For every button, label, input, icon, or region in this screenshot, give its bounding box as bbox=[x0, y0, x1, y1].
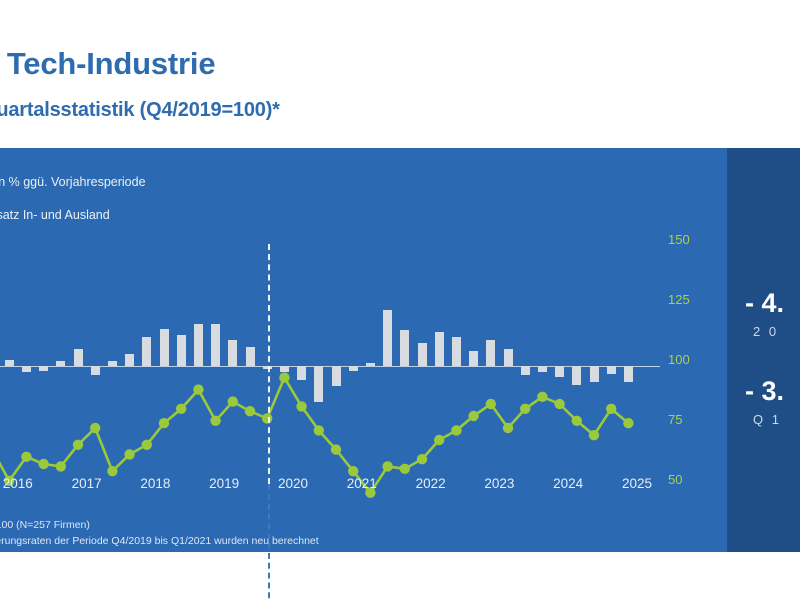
legend-label-change-rate: erung in % ggü. Vorjahresperiode bbox=[0, 175, 146, 189]
y-axis-tick-label: 75 bbox=[668, 412, 708, 427]
page-title: atz Tech-Industrie bbox=[0, 46, 215, 82]
x-axis-tick-label: 2021 bbox=[332, 476, 392, 491]
line-marker bbox=[245, 406, 255, 416]
line-marker bbox=[193, 384, 203, 394]
line-marker bbox=[279, 372, 289, 382]
slide-canvas: atz Tech-Industrie nem-Quartalsstatistik… bbox=[0, 0, 800, 600]
line-marker bbox=[382, 461, 392, 471]
line-marker bbox=[537, 392, 547, 402]
y-axis-tick-label: 50 bbox=[668, 472, 708, 487]
line-marker bbox=[400, 464, 410, 474]
slide-header: atz Tech-Industrie nem-Quartalsstatistik… bbox=[0, 0, 800, 148]
x-axis-tick-label: 2016 bbox=[0, 476, 48, 491]
chart-panel: erung in % ggü. Vorjahresperiode Umsatz … bbox=[0, 148, 727, 552]
footnote-recalculation: Veränderungsraten der Periode Q4/2019 bi… bbox=[0, 535, 319, 547]
line-marker bbox=[468, 411, 478, 421]
line-marker bbox=[56, 461, 66, 471]
line-marker bbox=[623, 418, 633, 428]
x-axis-tick-label: 2020 bbox=[263, 476, 323, 491]
line-marker bbox=[124, 449, 134, 459]
x-axis-tick-label: 2022 bbox=[401, 476, 461, 491]
line-marker bbox=[90, 423, 100, 433]
line-marker bbox=[228, 396, 238, 406]
stat-primary-label: 2 0 bbox=[753, 324, 779, 339]
line-marker bbox=[503, 423, 513, 433]
y-axis-tick-label: 125 bbox=[668, 292, 708, 307]
line-marker bbox=[520, 404, 530, 414]
line-marker bbox=[107, 466, 117, 476]
line-marker bbox=[142, 440, 152, 450]
stat-primary-value: - 4. bbox=[745, 288, 784, 319]
footnote-base-index: 19 = 100 (N=257 Firmen) bbox=[0, 519, 90, 531]
line-marker bbox=[210, 416, 220, 426]
line-marker bbox=[314, 425, 324, 435]
line-marker bbox=[486, 399, 496, 409]
x-axis-tick-label: 2024 bbox=[538, 476, 598, 491]
x-axis-tick-label: 2023 bbox=[469, 476, 529, 491]
plot-area bbox=[0, 240, 660, 480]
stats-side-panel: - 4. 2 0 - 3. Q 1 bbox=[727, 148, 800, 552]
x-axis-tick-label: 2018 bbox=[125, 476, 185, 491]
line-marker bbox=[451, 425, 461, 435]
legend-label-revenue: Umsatz In- und Ausland bbox=[0, 208, 110, 222]
line-marker bbox=[434, 435, 444, 445]
line-marker bbox=[38, 459, 48, 469]
line-marker bbox=[417, 454, 427, 464]
line-marker bbox=[21, 452, 31, 462]
x-axis-tick-label: 2019 bbox=[194, 476, 254, 491]
line-marker bbox=[296, 401, 306, 411]
line-marker bbox=[73, 440, 83, 450]
stat-secondary-label: Q 1 bbox=[753, 412, 781, 427]
y-axis-tick-label: 100 bbox=[668, 352, 708, 367]
line-marker bbox=[554, 399, 564, 409]
y-axis-tick-label: 150 bbox=[668, 232, 708, 247]
line-marker bbox=[159, 418, 169, 428]
line-marker bbox=[572, 416, 582, 426]
period-break-divider bbox=[268, 244, 270, 484]
line-marker bbox=[331, 444, 341, 454]
page-subtitle: nem-Quartalsstatistik (Q4/2019=100)* bbox=[0, 99, 280, 122]
x-axis-tick-label: 2025 bbox=[607, 476, 667, 491]
x-axis-tick-label: 2017 bbox=[57, 476, 117, 491]
line-marker bbox=[348, 466, 358, 476]
line-marker bbox=[589, 430, 599, 440]
line-marker bbox=[176, 404, 186, 414]
line-marker bbox=[606, 404, 616, 414]
stat-secondary-value: - 3. bbox=[745, 376, 784, 407]
